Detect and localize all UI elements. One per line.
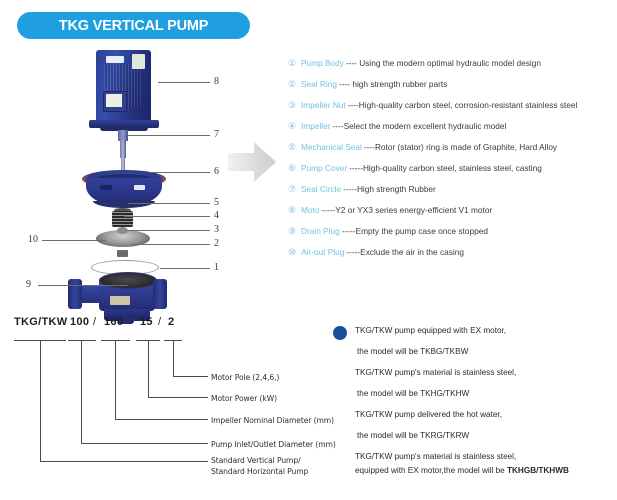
callout-line-9 [38, 285, 128, 286]
code-label-standard-vert: Standard Vertical Pump/ [211, 456, 301, 465]
legend-part-2: Seal Ring [301, 79, 337, 89]
callout-number-5: 5 [214, 197, 219, 208]
legend-desc-8: -----Y2 or YX3 series energy-efficient V… [321, 205, 492, 215]
legend-number-1: ① [288, 58, 301, 69]
legend-part-6: Pump Cover [301, 163, 347, 173]
code-label-inlet-dia: Pump Inlet/Outlet Diameter (mm) [211, 440, 336, 449]
casing-outlet-flange [153, 279, 167, 309]
pump-cover-port-right [134, 185, 145, 190]
code-run-series [40, 461, 208, 462]
callout-line-5 [128, 203, 210, 204]
legend-part-5: Mechanical Seal [301, 142, 362, 152]
legend-item-5: ⑤ Mechanical Seal ----Rotor (stator) rin… [288, 142, 613, 163]
parts-legend-list: ① Pump Body ---- Using the modern optima… [288, 58, 613, 268]
legend-number-10: ⑩ [288, 247, 301, 258]
code-drop-inlet [81, 340, 82, 443]
code-drop-pole [173, 340, 174, 376]
mechanical-seal [112, 211, 133, 227]
callout-number-10: 10 [28, 234, 38, 245]
legend-part-3: Impeller Nut [301, 100, 346, 110]
legend-item-2: ② Seal Ring ---- high strength rubber pa… [288, 79, 613, 100]
bullet-dot-icon [333, 326, 347, 340]
legend-item-10: ⑩ Air-out Plug -----Exclude the air in t… [288, 247, 613, 268]
code-run-impeller [115, 419, 208, 420]
code-segment-pole: 2 [168, 316, 174, 328]
page-title-banner: TKG VERTICAL PUMP [17, 12, 250, 39]
note-line-4: the model will be TKHG/TKHW [357, 389, 469, 398]
legend-desc-6: -----High-quality carbon steel, stainles… [349, 163, 542, 173]
callout-line-8 [158, 82, 210, 83]
callout-line-2 [132, 244, 210, 245]
impeller-hub [117, 227, 128, 234]
legend-number-7: ⑦ [288, 184, 301, 195]
code-separator-1: / [93, 316, 96, 328]
legend-part-7: Seal Circle [301, 184, 341, 194]
legend-item-8: ⑧ Moto -----Y2 or YX3 series energy-effi… [288, 205, 613, 226]
page-title: TKG VERTICAL PUMP [59, 18, 208, 34]
callout-number-3: 3 [214, 224, 219, 235]
legend-number-9: ⑨ [288, 226, 301, 237]
code-run-pole [173, 376, 208, 377]
callout-number-9: 9 [26, 279, 31, 290]
legend-desc-7: -----High strength Rubber [343, 184, 436, 194]
legend-item-1: ① Pump Body ---- Using the modern optima… [288, 58, 613, 79]
flow-arrow-icon [228, 140, 276, 184]
legend-item-4: ④ Impeller ----Select the modern excelle… [288, 121, 613, 142]
note-line-2: the model will be TKBG/TKBW [357, 347, 468, 356]
callout-line-3 [128, 230, 210, 231]
motor-nameplate-upper [106, 56, 124, 63]
note-line-3: TKG/TKW pump's material is stainless ste… [355, 368, 516, 377]
code-separator-2: - [130, 316, 134, 328]
legend-desc-10: -----Exclude the air in the casing [346, 247, 464, 257]
casing-open-top [99, 272, 157, 289]
legend-part-9: Drain Plug [301, 226, 340, 236]
legend-number-3: ③ [288, 100, 301, 111]
code-segment-power: 15 [140, 316, 153, 328]
code-label-motor-power: Motor Power (kW) [211, 394, 277, 403]
code-segment-inlet: 100 [70, 316, 89, 328]
callout-number-4: 4 [214, 210, 219, 221]
code-drop-impeller [115, 340, 116, 419]
callout-number-7: 7 [214, 129, 219, 140]
legend-part-8: Moto [301, 205, 319, 215]
note-line-6: the model will be TKRG/TKRW [357, 431, 469, 440]
legend-part-1: Pump Body [301, 58, 344, 68]
impeller-nut-graphic [117, 250, 128, 257]
code-label-standard-horiz: Standard Horizontal Pump [211, 467, 308, 476]
callout-line-1 [160, 268, 210, 269]
code-label-motor-pole: Motor Pole (2,4,6,) [211, 373, 279, 382]
note-line-1: TKG/TKW pump equipped with EX motor, [355, 326, 506, 335]
code-segment-series: TKG/TKW [14, 316, 67, 328]
note-line-7: TKG/TKW pump's material is stainless ste… [355, 452, 516, 461]
callout-line-7 [128, 135, 210, 136]
callout-number-6: 6 [214, 166, 219, 177]
code-drop-power [148, 340, 149, 397]
code-underline-inlet [68, 340, 96, 341]
legend-item-7: ⑦ Seal Circle -----High strength Rubber [288, 184, 613, 205]
legend-number-5: ⑤ [288, 142, 301, 153]
legend-number-4: ④ [288, 121, 301, 132]
note-line-8-model: TKHGB/TKHWB [507, 466, 569, 475]
code-run-inlet [81, 443, 208, 444]
legend-number-6: ⑥ [288, 163, 301, 174]
pump-cover-port-left [100, 185, 112, 190]
legend-desc-2: ---- high strength rubber parts [339, 79, 447, 89]
legend-desc-1: ---- Using the modern optimal hydraulic … [346, 58, 541, 68]
casing-inlet-flange [68, 279, 82, 309]
note-line-8-text: equipped with EX motor,the model will be [355, 466, 507, 475]
callout-number-1: 1 [214, 262, 219, 273]
casing-nameplate [110, 296, 130, 305]
legend-desc-9: -----Empty the pump case once stopped [342, 226, 488, 236]
code-run-power [148, 397, 208, 398]
callout-number-8: 8 [214, 76, 219, 87]
legend-desc-3: ----High-quality carbon steel, corrosion… [348, 100, 578, 110]
callout-line-6 [150, 172, 210, 173]
code-separator-3: / [158, 316, 161, 328]
legend-part-4: Impeller [301, 121, 331, 131]
legend-number-8: ⑧ [288, 205, 301, 216]
legend-item-9: ⑨ Drain Plug -----Empty the pump case on… [288, 226, 613, 247]
callout-line-10 [42, 240, 106, 241]
motor-terminal-box-label [106, 94, 122, 107]
motor-nameplate-side [132, 54, 145, 69]
code-drop-series [40, 340, 41, 461]
callout-line-4 [124, 216, 210, 217]
callout-number-2: 2 [214, 238, 219, 249]
note-line-8: equipped with EX motor,the model will be… [355, 466, 569, 475]
legend-item-3: ③ Impeller Nut ----High-quality carbon s… [288, 100, 613, 121]
pump-shaft-mid [120, 140, 126, 158]
note-line-5: TKG/TKW pump delivered the hot water, [355, 410, 502, 419]
legend-desc-4: ----Select the modern excellent hydrauli… [333, 121, 507, 131]
code-segment-impeller: 160 [104, 316, 123, 328]
legend-desc-5: ----Rotor (stator) ring is made of Graph… [364, 142, 557, 152]
code-label-impeller-dia: Impeller Nominal Diameter (mm) [211, 416, 334, 425]
legend-part-10: Air-out Plug [301, 247, 344, 257]
legend-item-6: ⑥ Pump Cover -----High-quality carbon st… [288, 163, 613, 184]
legend-number-2: ② [288, 79, 301, 90]
